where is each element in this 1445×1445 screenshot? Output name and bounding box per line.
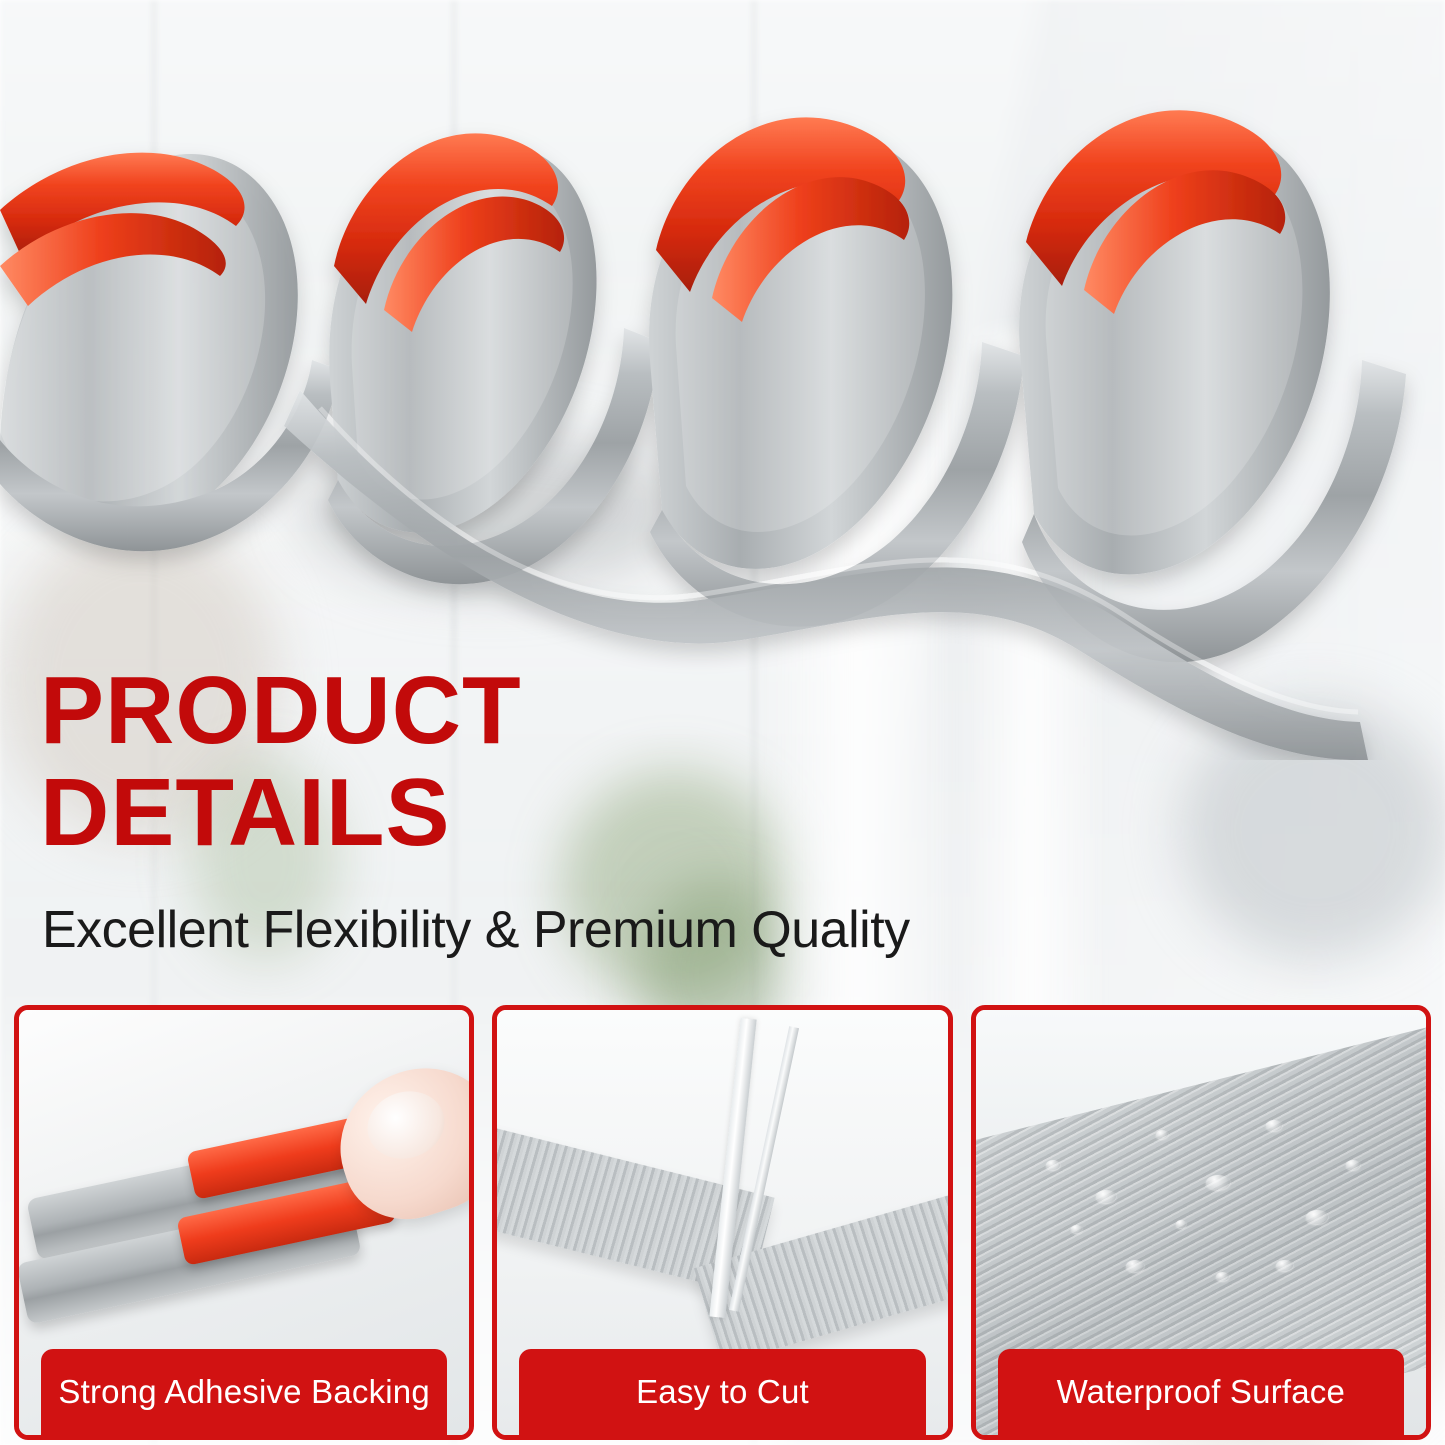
water-droplet	[1306, 1210, 1328, 1224]
water-droplet	[1046, 1160, 1060, 1170]
product-detail-infographic: PRODUCT DETAILS Excellent Flexibility & …	[0, 0, 1445, 1445]
feature-card-easy-cut[interactable]: Easy to Cut	[492, 1005, 952, 1440]
water-droplet	[1216, 1272, 1229, 1281]
headline-block: PRODUCT DETAILS	[40, 660, 1140, 864]
coiled-seal-strips-image	[0, 60, 1445, 760]
feature-card-adhesive[interactable]: Strong Adhesive Backing	[14, 1005, 474, 1440]
feature-label-easy-cut: Easy to Cut	[519, 1349, 925, 1435]
water-droplet	[1206, 1175, 1230, 1190]
feature-card-row: Strong Adhesive Backing Easy to Cut	[14, 1005, 1431, 1430]
feature-label-waterproof: Waterproof Surface	[998, 1349, 1404, 1435]
water-droplet	[1266, 1120, 1282, 1131]
water-droplet	[1096, 1190, 1116, 1203]
subheadline: Excellent Flexibility & Premium Quality	[42, 900, 910, 960]
feature-label-adhesive: Strong Adhesive Backing	[41, 1349, 447, 1435]
water-droplet	[1176, 1220, 1186, 1228]
headline-line-2: DETAILS	[40, 762, 1140, 864]
water-droplet	[1071, 1225, 1082, 1233]
headline-line-1: PRODUCT	[40, 660, 1140, 762]
water-droplet	[1346, 1160, 1360, 1170]
water-droplet	[1276, 1260, 1293, 1271]
water-droplet	[1126, 1260, 1144, 1272]
feature-card-waterproof[interactable]: Waterproof Surface	[971, 1005, 1431, 1440]
water-droplet	[1156, 1130, 1168, 1139]
